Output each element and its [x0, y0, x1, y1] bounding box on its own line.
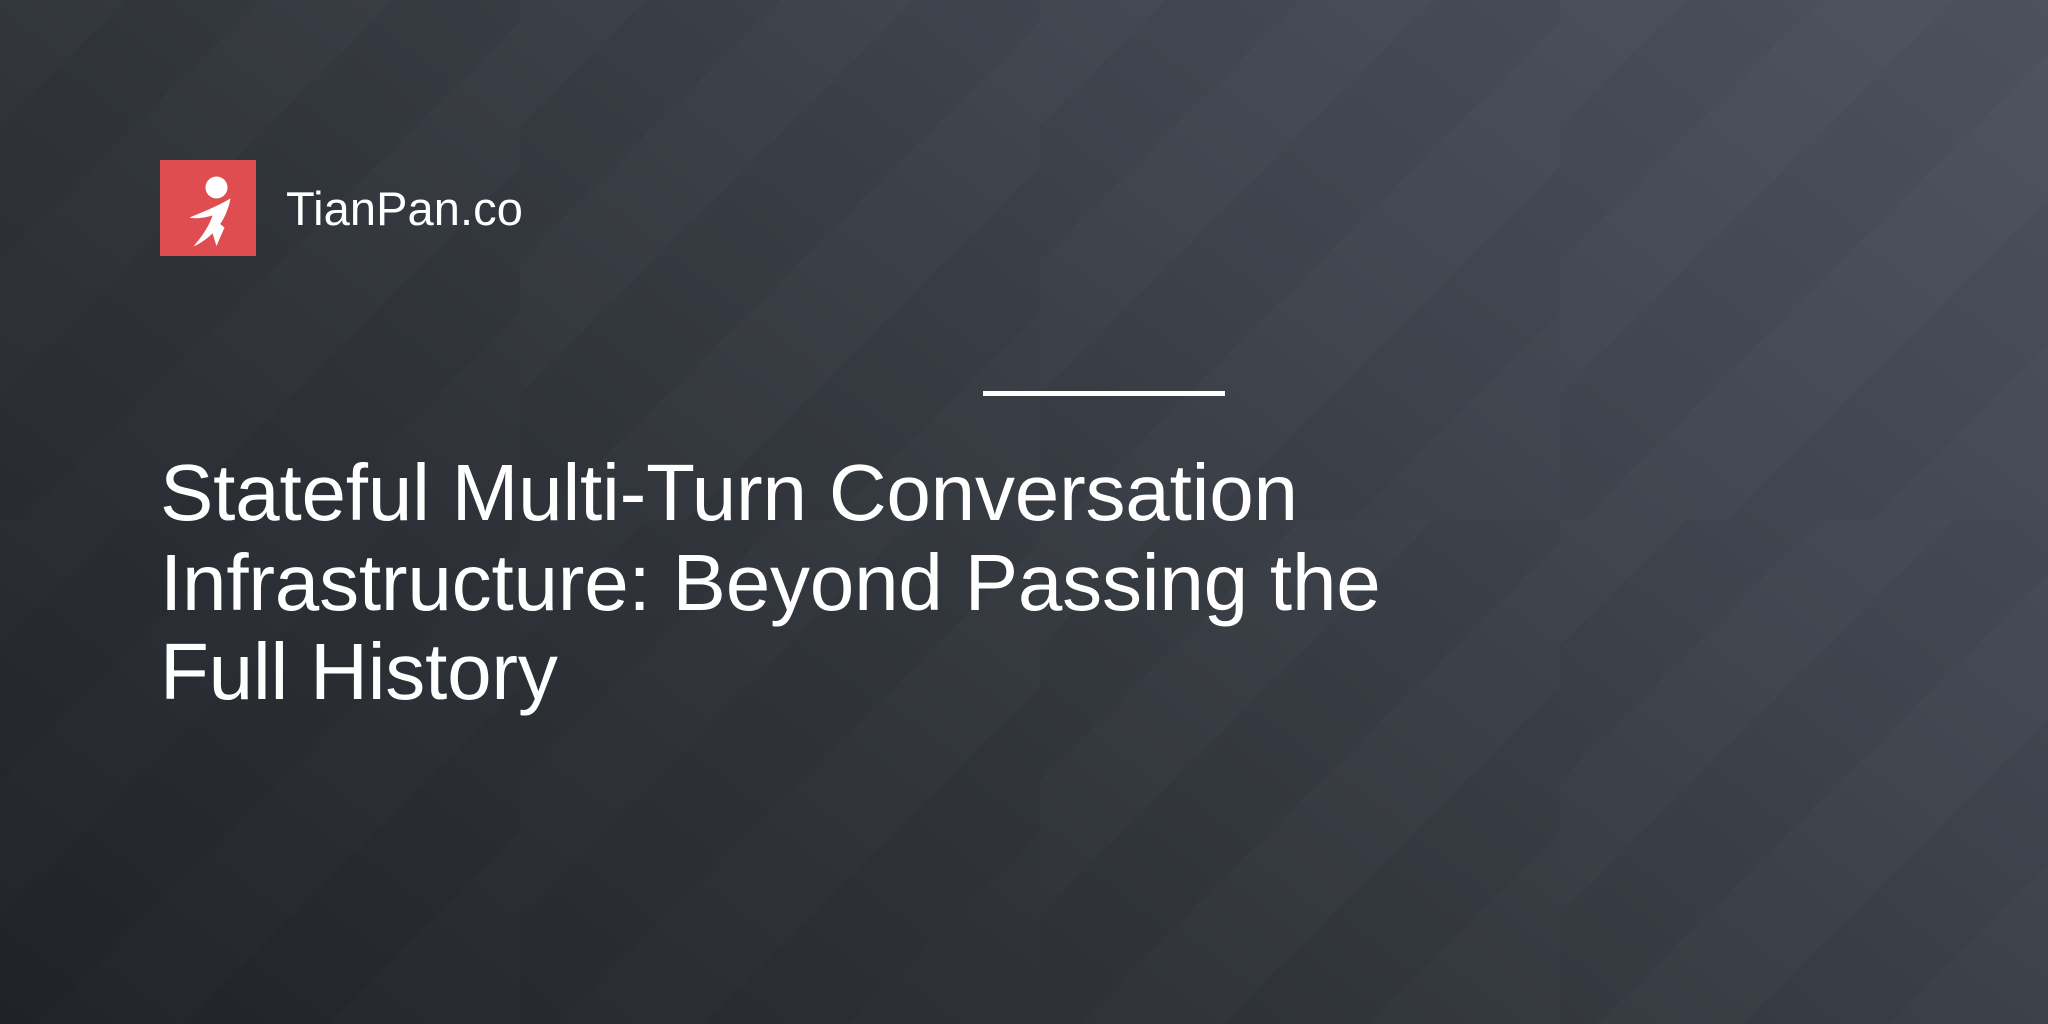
tianpan-running-figure-logo-icon[interactable]	[160, 160, 256, 256]
brand-name: TianPan.co	[286, 185, 523, 232]
page-title-line: Infrastructure: Beyond Passing the	[160, 538, 1720, 628]
og-card: TianPan.co Stateful Multi-Turn Conversat…	[0, 0, 2048, 1024]
page-title-line: Full History	[160, 627, 1720, 717]
page-title: Stateful Multi-Turn Conversation Infrast…	[160, 448, 1720, 717]
page-title-line: Stateful Multi-Turn Conversation	[160, 448, 1720, 538]
card-content: TianPan.co Stateful Multi-Turn Conversat…	[0, 0, 2048, 717]
title-divider	[983, 391, 1225, 396]
brand-row[interactable]: TianPan.co	[160, 160, 2048, 256]
